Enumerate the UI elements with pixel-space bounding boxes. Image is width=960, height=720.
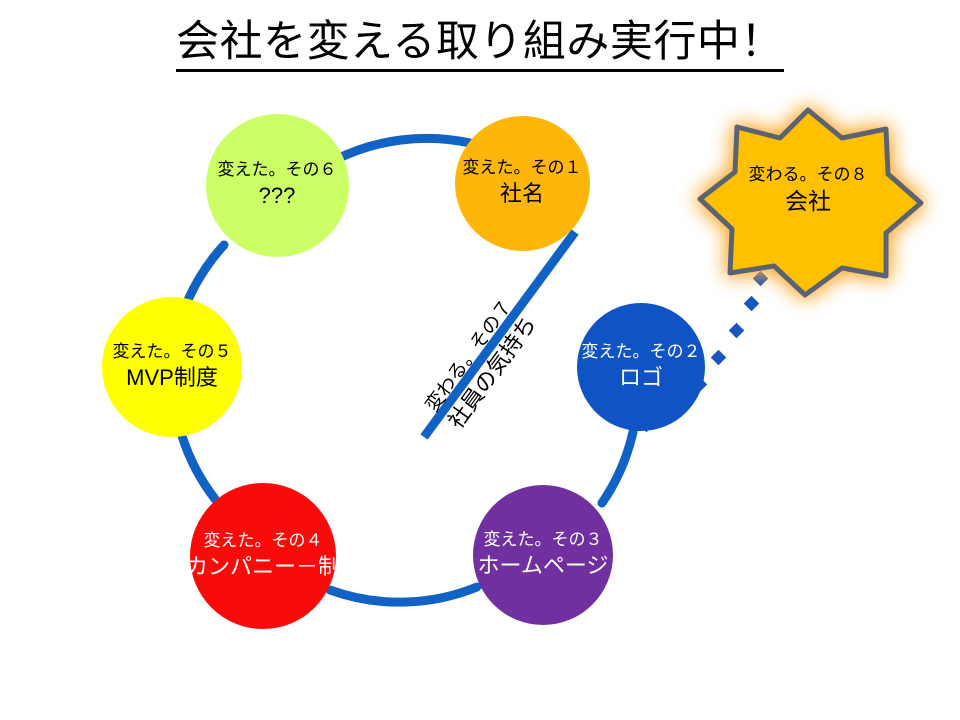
connector-arc-3-to-2 (602, 432, 633, 503)
connector-arc-4-to-3 (330, 587, 477, 602)
node-6-line1: 変えた。その６ (218, 159, 337, 182)
node-3-line1: 変えた。その３ (484, 529, 603, 552)
node-circle-4[interactable]: 変えた。その４ カンパニー－制 (190, 483, 336, 629)
star-callout[interactable]: 変わる。その８ 会社 (692, 96, 924, 306)
node-circle-3[interactable]: 変えた。その３ ホームページ (473, 485, 613, 625)
node-4-line1: 変えた。その４ (204, 530, 323, 553)
node-4-line2: カンパニー－制 (186, 553, 340, 582)
node-5-line2: MVP制度 (126, 364, 218, 393)
seven-point-star-icon (692, 96, 924, 306)
node-3-line2: ホームページ (478, 552, 609, 581)
node-1-line1: 変えた。その１ (463, 157, 582, 180)
connector-arc-6-to-1 (335, 138, 470, 160)
node-1-line2: 社名 (500, 180, 544, 209)
node-circle-2[interactable]: 変えた。その２ ロゴ (577, 303, 705, 431)
connector-arc-4-to-5 (182, 436, 215, 499)
node-circle-1[interactable]: 変えた。その１ 社名 (455, 116, 590, 251)
node-2-line1: 変えた。その２ (582, 341, 701, 364)
node-5-line1: 変えた。その５ (113, 341, 232, 364)
node-circle-6[interactable]: 変えた。その６ ??? (206, 114, 349, 257)
node-circle-5[interactable]: 変えた。その５ MVP制度 (102, 297, 242, 437)
star-shape (700, 110, 921, 295)
slide-canvas: 会社を変える取り組み実行中！ 変えた。その１ 社名 変えた。 (0, 0, 960, 720)
node-6-line2: ??? (259, 182, 296, 211)
connector-arc-5-to-6 (188, 245, 224, 300)
node-2-line2: ロゴ (619, 364, 663, 393)
